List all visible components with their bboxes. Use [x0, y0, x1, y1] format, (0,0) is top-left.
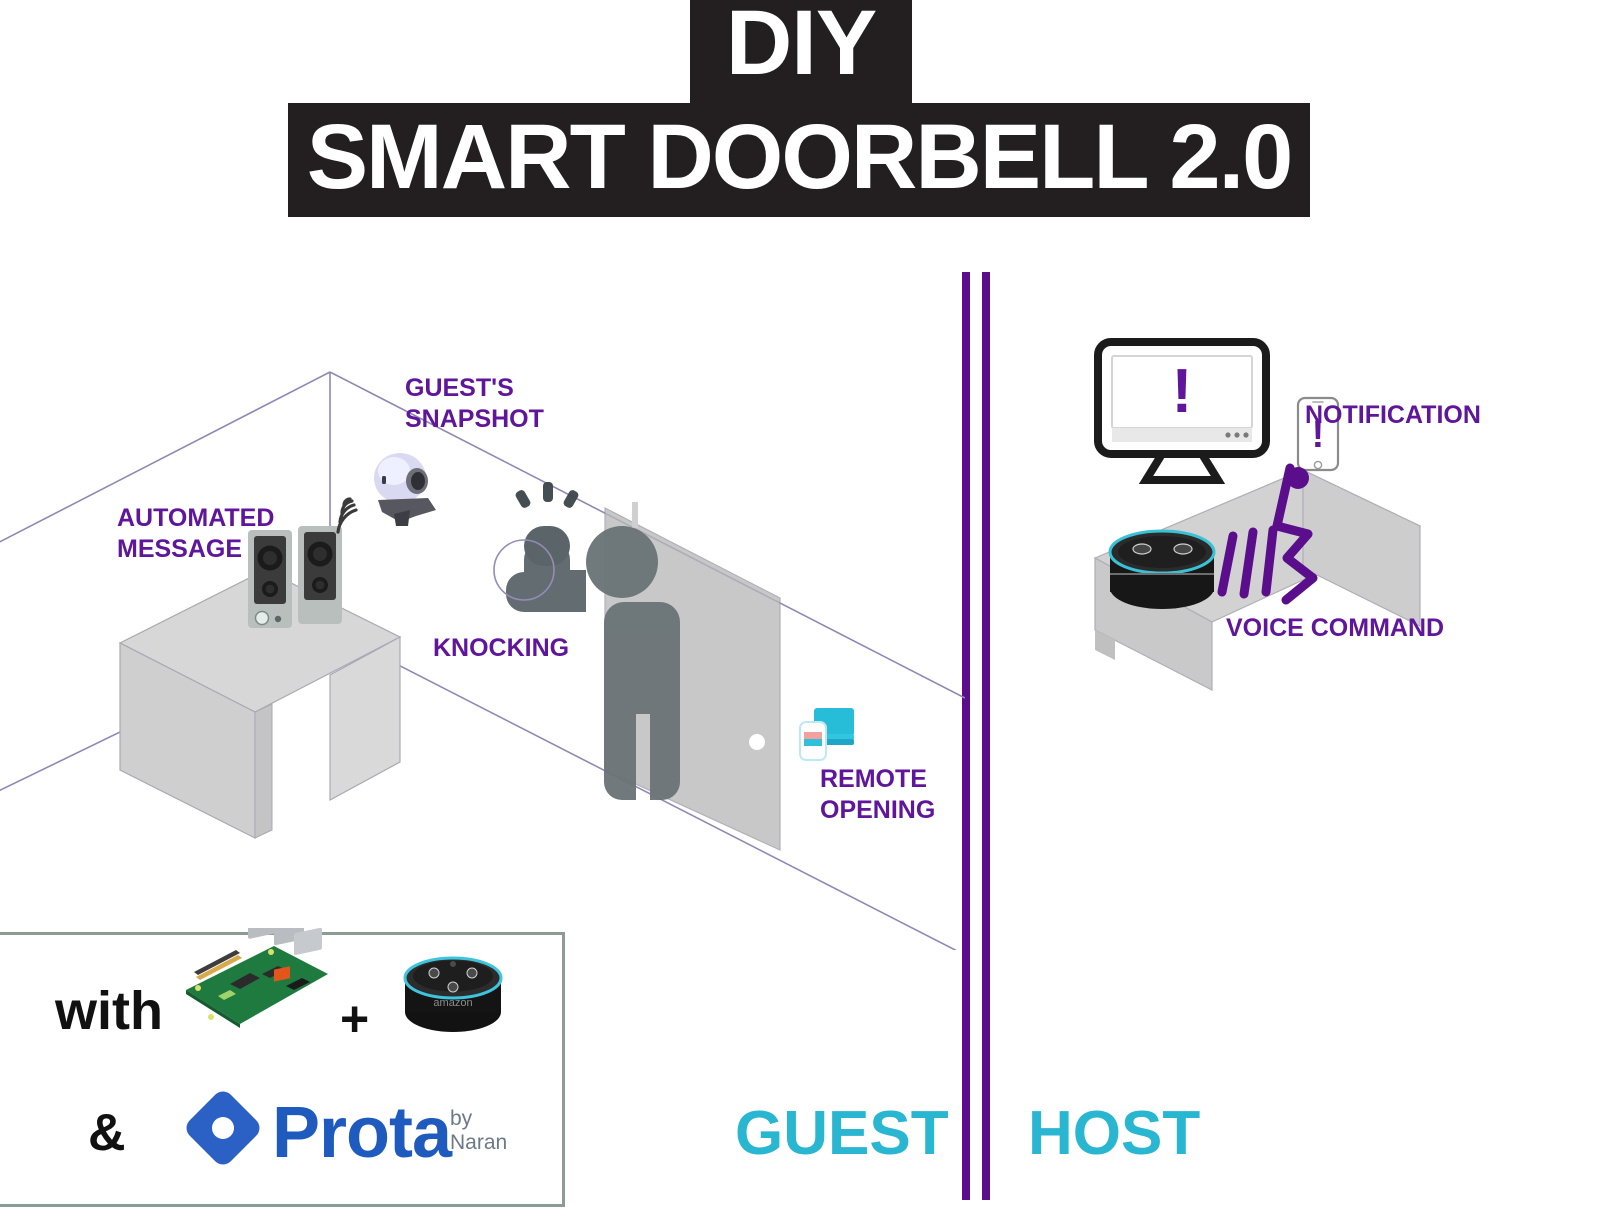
label-remote-opening-line1: REMOTE — [820, 764, 935, 795]
label-guests-snapshot-line2: SNAPSHOT — [405, 404, 544, 435]
monitor-alert-text: ! — [1172, 357, 1193, 426]
label-knocking-line1: KNOCKING — [433, 633, 569, 664]
head-dot-icon — [1287, 467, 1309, 489]
label-knocking: KNOCKING — [433, 633, 569, 664]
prota-byline-line1: by — [450, 1107, 507, 1131]
remote-unlock-icon — [800, 708, 854, 760]
label-guests-snapshot: GUEST'S SNAPSHOT — [405, 373, 544, 435]
echo-dot-icon — [1110, 531, 1214, 609]
echo-brand-text: amazon — [433, 997, 472, 1009]
title-block: DIY SMART DOORBELL 2.0 — [0, 0, 1600, 230]
page-title: SMART DOORBELL 2.0 — [288, 97, 1310, 217]
label-automated-message-line2: MESSAGE — [117, 534, 274, 565]
prota-wordmark: Prota — [272, 1092, 451, 1174]
credits-amp-sign: & — [88, 1103, 126, 1163]
host-section-label: HOST — [1028, 1103, 1200, 1165]
label-guests-snapshot-line1: GUEST'S — [405, 373, 544, 404]
title-kicker: DIY — [690, 0, 912, 98]
prota-byline-line2: Naran — [450, 1131, 507, 1155]
prota-byline: by Naran — [450, 1107, 507, 1155]
monitor-icon: ! — [1098, 342, 1266, 480]
raspberry-pi-icon — [178, 928, 333, 1033]
prota-logo-icon — [180, 1085, 266, 1171]
guest-section-label: GUEST — [735, 1103, 949, 1165]
amazon-echo-dot-icon: amazon — [398, 940, 508, 1040]
label-automated-message-line1: AUTOMATED — [117, 503, 274, 534]
label-automated-message: AUTOMATED MESSAGE — [117, 503, 274, 565]
label-notification: NOTIFICATION — [1305, 400, 1481, 431]
label-notification-line1: NOTIFICATION — [1305, 400, 1481, 431]
label-remote-opening: REMOTE OPENING — [820, 764, 935, 826]
label-remote-opening-line2: OPENING — [820, 795, 935, 826]
label-voice-command: VOICE COMMAND — [1226, 613, 1444, 644]
webcam-icon — [374, 453, 436, 526]
credits-plus-sign: + — [340, 990, 369, 1048]
label-voice-command-line1: VOICE COMMAND — [1226, 613, 1444, 644]
credits-with-label: with — [55, 980, 163, 1042]
section-divider-right — [982, 272, 990, 1200]
